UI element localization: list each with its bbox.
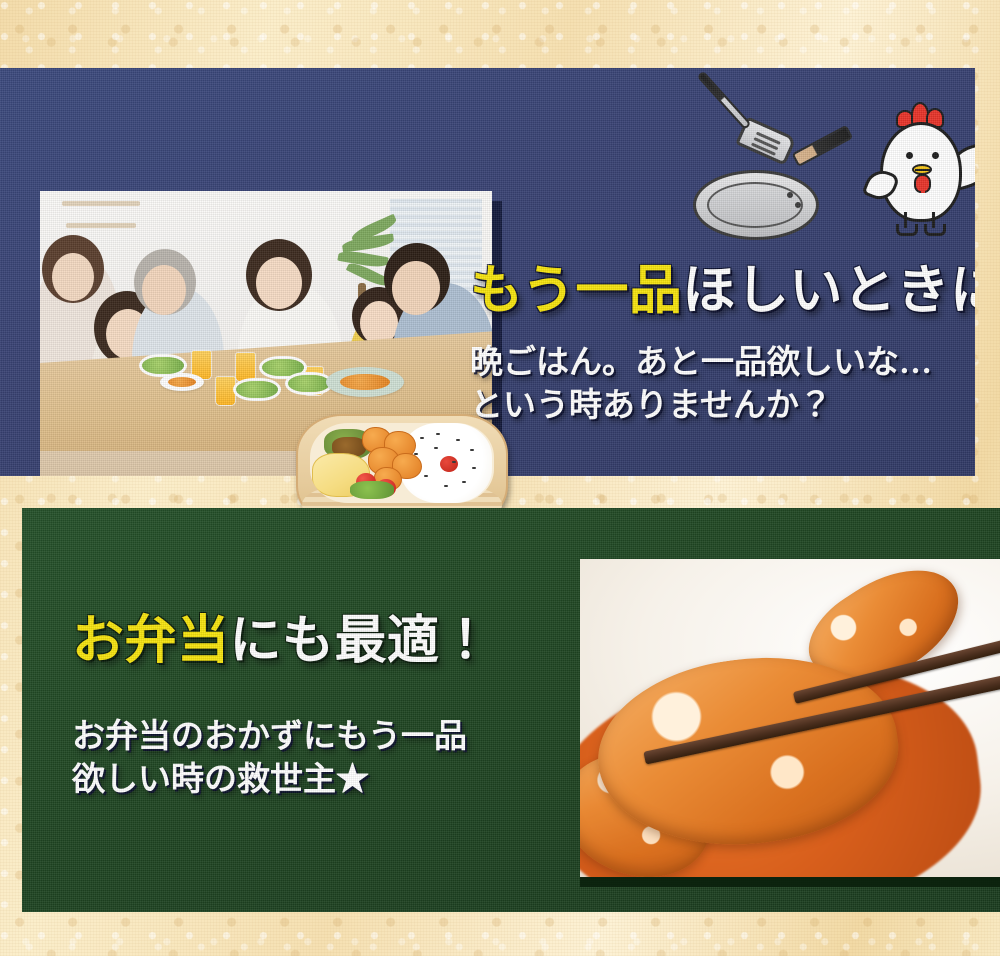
photo-person-face bbox=[52, 253, 94, 301]
photo-wall-shelf bbox=[62, 201, 140, 206]
mascot-foot bbox=[924, 224, 946, 236]
navy-subtext-line-1: 晩ごはん。あと一品欲しいな… bbox=[470, 342, 970, 386]
photo-wall-shelf bbox=[66, 223, 136, 228]
navy-headline: もう一品ほしいときに！ bbox=[470, 264, 970, 320]
photo-plate bbox=[326, 367, 404, 397]
green-headline-accent: お弁当 bbox=[72, 613, 230, 670]
chicken-mascot-icon bbox=[862, 102, 975, 244]
mascot-foot bbox=[896, 224, 918, 236]
green-text-block: お弁当にも最適！ お弁当のおかずにもう一品 欲しい時の救世主★ bbox=[72, 615, 542, 803]
pan-inner-surface bbox=[707, 182, 803, 228]
mascot-eye bbox=[932, 152, 939, 159]
pan-handle bbox=[791, 125, 853, 167]
navy-subtext-line-2: という時ありませんか？ bbox=[470, 385, 970, 429]
photo-salad-bowl bbox=[288, 375, 330, 392]
spatula-icon bbox=[735, 116, 797, 165]
navy-headline-rest: ほしいときに！ bbox=[682, 262, 975, 320]
green-subtext-line-2: 欲しい時の救世主★ bbox=[72, 759, 542, 803]
photo-person-face bbox=[142, 265, 186, 315]
photo-juice-glass bbox=[236, 353, 255, 381]
mascot-eye bbox=[906, 152, 913, 159]
photo-plate bbox=[160, 373, 204, 391]
photo-person-face bbox=[392, 261, 440, 315]
green-subtext: お弁当のおかずにもう一品 欲しい時の救世主★ bbox=[72, 716, 542, 803]
green-headline: お弁当にも最適！ bbox=[72, 615, 542, 670]
green-subtext-line-1: お弁当のおかずにもう一品 bbox=[72, 716, 542, 760]
karaage-closeup-photo bbox=[580, 559, 1000, 877]
photo-salad-bowl bbox=[236, 381, 278, 398]
navy-subtext: 晩ごはん。あと一品欲しいな… という時ありませんか？ bbox=[470, 342, 970, 429]
photo-person-face bbox=[256, 257, 302, 309]
bento-umeboshi bbox=[440, 456, 458, 472]
photo-juice-glass bbox=[216, 377, 235, 405]
bento-contents bbox=[310, 423, 494, 503]
photo-salad-bowl bbox=[142, 357, 184, 374]
pan-rivet bbox=[787, 192, 793, 198]
green-headline-rest: にも最適！ bbox=[230, 613, 493, 670]
navy-headline-accent: もう一品 bbox=[470, 262, 682, 320]
bento-peas bbox=[350, 481, 394, 499]
frying-pan-illustration bbox=[683, 108, 853, 243]
pan-rivet bbox=[795, 202, 801, 208]
photo-salad-bowl bbox=[262, 359, 304, 376]
mascot-wattle bbox=[914, 174, 931, 193]
navy-text-block: もう一品ほしいときに！ 晩ごはん。あと一品欲しいな… という時ありませんか？ bbox=[470, 264, 970, 429]
